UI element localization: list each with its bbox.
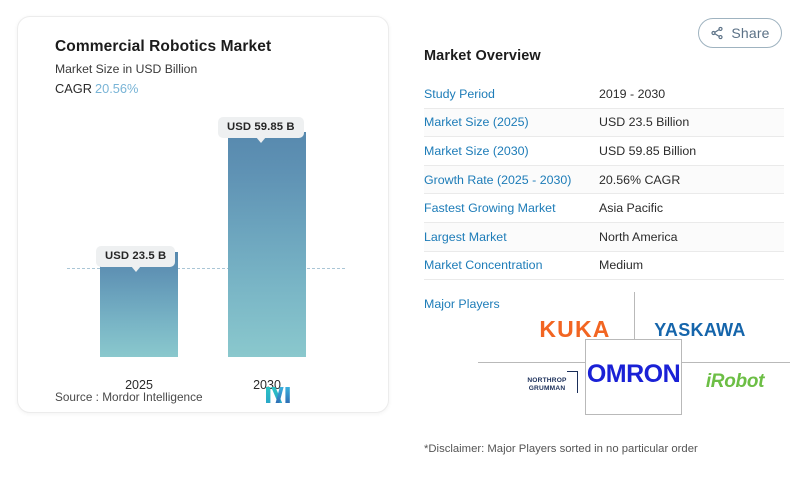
northrop-bracket-icon [567, 371, 578, 393]
overview-label: Fastest Growing Market [424, 201, 599, 215]
chart-subtitle: Market Size in USD Billion [55, 62, 197, 76]
share-button[interactable]: Share [698, 18, 782, 48]
yaskawa-logo: YASKAWA [640, 316, 760, 344]
overview-row-market-size-2030: Market Size (2030) USD 59.85 Billion [424, 137, 784, 166]
overview-value: Medium [599, 258, 643, 272]
overview-label: Market Size (2025) [424, 115, 599, 129]
northrop-line-2: GRUMMAN [529, 385, 566, 393]
omron-logo: OMRON [588, 354, 679, 394]
overview-label: Market Concentration [424, 258, 599, 272]
overview-row-largest-market: Largest Market North America [424, 223, 784, 252]
overview-label: Market Size (2030) [424, 144, 599, 158]
cagr-label: CAGR [55, 81, 92, 96]
overview-value: Asia Pacific [599, 201, 663, 215]
overview-value: 2019 - 2030 [599, 87, 665, 101]
share-button-label: Share [731, 25, 769, 41]
overview-row-study-period: Study Period 2019 - 2030 [424, 80, 784, 109]
overview-value: USD 59.85 Billion [599, 144, 696, 158]
northrop-grumman-logo: NORTHROP GRUMMAN [515, 370, 579, 400]
overview-value: 20.56% CAGR [599, 173, 680, 187]
overview-row-market-concentration: Market Concentration Medium [424, 252, 784, 281]
chart-title: Commercial Robotics Market [55, 38, 271, 56]
northrop-line-1: NORTHROP [527, 377, 566, 385]
overview-row-market-size-2025: Market Size (2025) USD 23.5 Billion [424, 109, 784, 138]
overview-row-growth-rate: Growth Rate (2025 - 2030) 20.56% CAGR [424, 166, 784, 195]
mordor-intelligence-logo [266, 386, 292, 404]
kuka-logo: KUKA [520, 314, 630, 344]
overview-title: Market Overview [424, 48, 784, 64]
overview-label: Growth Rate (2025 - 2030) [424, 173, 599, 187]
share-nodes-icon [710, 26, 724, 40]
overview-row-fastest-growing-market: Fastest Growing Market Asia Pacific [424, 194, 784, 223]
cagr-line: CAGR20.56% [55, 81, 138, 96]
market-overview-panel: Market Overview Study Period 2019 - 2030… [424, 48, 784, 311]
overview-label: Largest Market [424, 230, 599, 244]
major-players-logo-grid: KUKA YASKAWA OMRON NORTHROP GRUMMAN iRob… [440, 292, 788, 414]
cagr-value: 20.56% [95, 81, 138, 96]
overview-label: Study Period [424, 87, 599, 101]
disclaimer-text: *Disclaimer: Major Players sorted in no … [424, 443, 698, 455]
source-text: Source : Mordor Intelligence [55, 390, 203, 404]
overview-value: USD 23.5 Billion [599, 115, 689, 129]
overview-value: North America [599, 230, 678, 244]
irobot-logo: iRobot [690, 368, 780, 396]
